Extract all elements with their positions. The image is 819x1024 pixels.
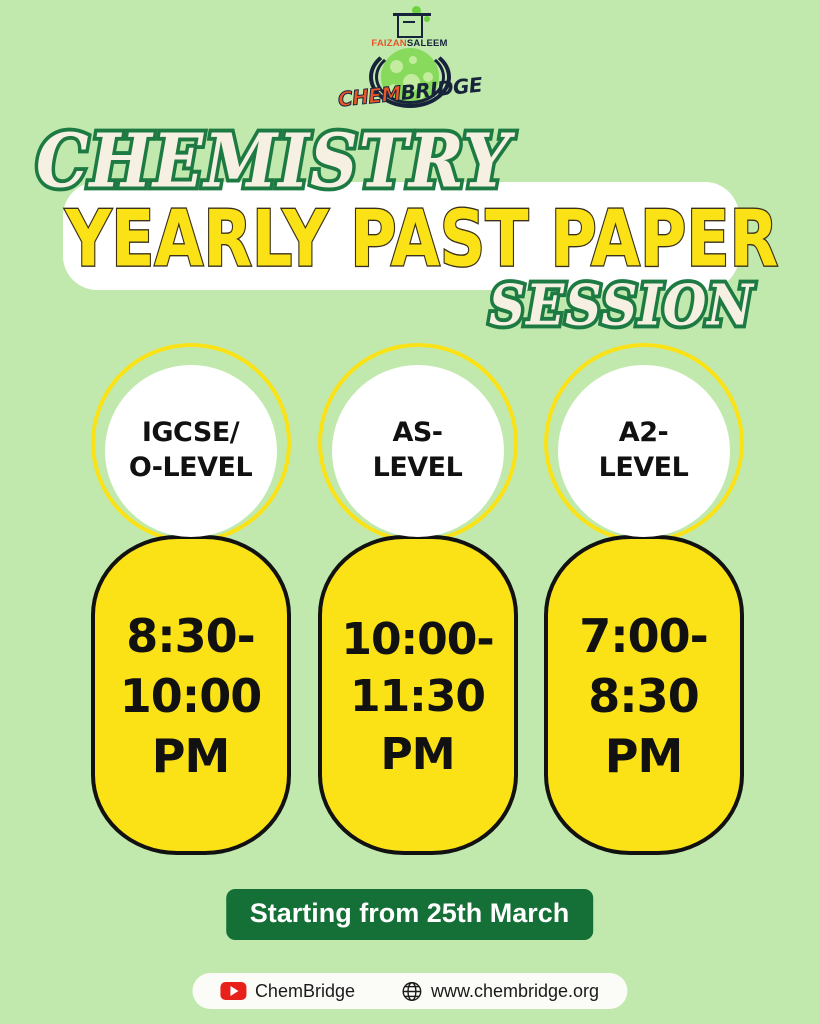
level-column-as-level[interactable]: AS- LEVEL 10:00- 11:30 PM xyxy=(305,343,530,858)
footer-bar: ChemBridge www.chembridge.org xyxy=(192,973,627,1009)
level-name: AS- LEVEL xyxy=(373,416,463,485)
start-date-text: Starting from 25th March xyxy=(250,898,570,928)
footer-youtube-label: ChemBridge xyxy=(255,981,355,1002)
page-title-line1: CHEMISTRY xyxy=(36,117,511,204)
level-time-card[interactable]: 10:00- 11:30 PM xyxy=(318,535,518,855)
footer-website[interactable]: www.chembridge.org xyxy=(401,981,599,1002)
start-date-banner: Starting from 25th March xyxy=(226,889,594,940)
flask-icon xyxy=(397,16,423,38)
level-column-igcse-o-level[interactable]: IGCSE/ O-LEVEL 8:30- 10:00 PM xyxy=(78,343,303,858)
level-time: 7:00- 8:30 PM xyxy=(579,603,708,786)
level-badge: IGCSE/ O-LEVEL xyxy=(105,365,277,537)
level-time-card[interactable]: 7:00- 8:30 PM xyxy=(544,535,744,855)
page-title-line3: SESSION xyxy=(489,272,754,338)
brand-logo-inner: FAIZANSALEEM CHEMBRIDGE xyxy=(350,6,470,114)
level-time: 10:00- 11:30 PM xyxy=(341,607,493,783)
level-time: 8:30- 10:00 PM xyxy=(120,603,261,786)
level-time-card[interactable]: 8:30- 10:00 PM xyxy=(91,535,291,855)
footer-youtube[interactable]: ChemBridge xyxy=(220,981,355,1002)
level-badge: AS- LEVEL xyxy=(332,365,504,537)
brand-logo: FAIZANSALEEM CHEMBRIDGE xyxy=(0,6,819,114)
level-badge: A2- LEVEL xyxy=(558,365,730,537)
page-title-line2: YEARLY PAST PAPER xyxy=(65,193,738,284)
footer-website-label: www.chembridge.org xyxy=(431,981,599,1002)
youtube-icon xyxy=(220,982,246,1000)
level-name: IGCSE/ O-LEVEL xyxy=(129,416,252,485)
level-column-a2-level[interactable]: A2- LEVEL 7:00- 8:30 PM xyxy=(531,343,756,858)
level-name: A2- LEVEL xyxy=(599,416,689,485)
bubble-icon xyxy=(424,16,430,22)
globe-icon xyxy=(401,981,422,1002)
brand-wordmark-chem: CHEM xyxy=(336,81,401,111)
